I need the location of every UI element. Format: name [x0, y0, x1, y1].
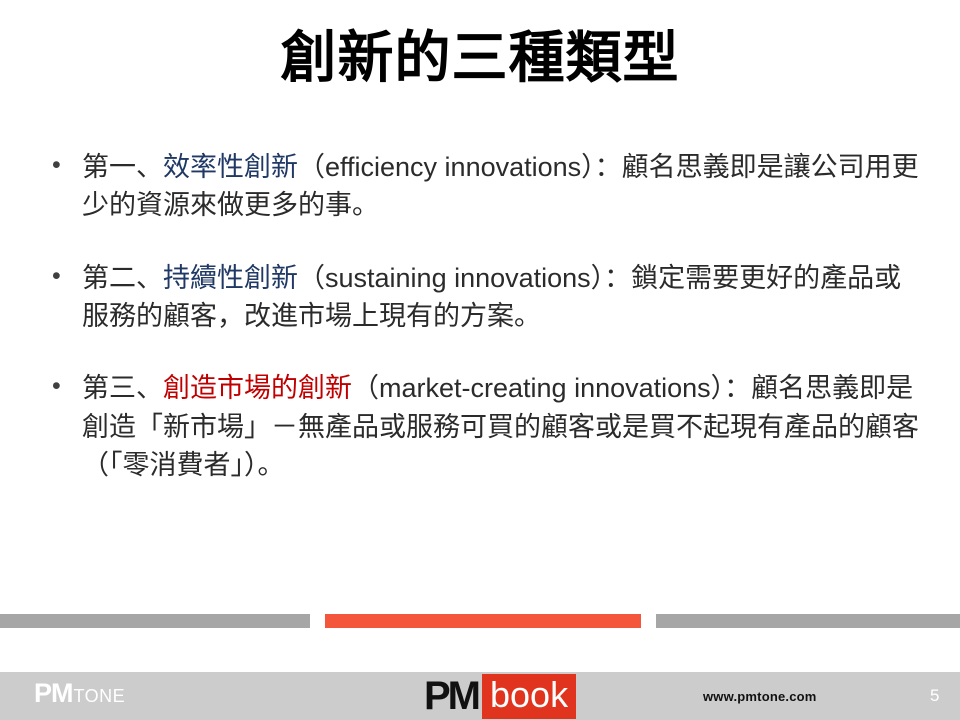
- page-number: 5: [930, 686, 939, 706]
- page-title: 創新的三種類型: [0, 26, 960, 90]
- bullet-marker: •: [44, 259, 82, 295]
- bullet-highlight-3: 創造市場的創新: [163, 373, 352, 403]
- bullet-prefix-2: 第二、: [82, 263, 163, 293]
- pmbook-logo-book: book: [482, 674, 576, 719]
- bullet-item-1: • 第一、效率性創新（efficiency innovations）：顧名思義即…: [44, 148, 924, 225]
- bullet-item-3: • 第三、創造市場的創新（market-creating innovations…: [44, 369, 924, 484]
- pmbook-logo: PM book: [424, 674, 576, 718]
- bullet-text-1: 第一、效率性創新（efficiency innovations）：顧名思義即是讓…: [82, 148, 924, 225]
- bullet-marker: •: [44, 148, 82, 184]
- bullet-item-2: • 第二、持續性創新（sustaining innovations）：鎖定需要更…: [44, 259, 924, 336]
- decor-bar-left: [0, 614, 310, 628]
- pmtone-logo-pm: PM: [34, 680, 73, 707]
- slide: 創新的三種類型 • 第一、效率性創新（efficiency innovation…: [0, 0, 960, 720]
- slide-body: • 第一、效率性創新（efficiency innovations）：顧名思義即…: [44, 148, 924, 484]
- bullet-text-3: 第三、創造市場的創新（market-creating innovations）：…: [82, 369, 924, 484]
- pmtone-logo-tone: TONE: [74, 687, 126, 705]
- decor-bar-right: [656, 614, 960, 628]
- pmtone-logo: PM TONE: [34, 680, 125, 707]
- bullet-marker: •: [44, 369, 82, 405]
- bullet-prefix-1: 第一、: [82, 152, 163, 182]
- footer-website-url: www.pmtone.com: [703, 689, 817, 704]
- bullet-text-2: 第二、持續性創新（sustaining innovations）：鎖定需要更好的…: [82, 259, 924, 336]
- decor-bar-center: [325, 614, 641, 628]
- pmbook-logo-pm: PM: [424, 676, 478, 716]
- bullet-highlight-2: 持續性創新: [163, 263, 298, 293]
- bullet-highlight-1: 效率性創新: [163, 152, 298, 182]
- bullet-prefix-3: 第三、: [82, 373, 163, 403]
- slide-footer: PM TONE PM book www.pmtone.com 5: [0, 672, 960, 720]
